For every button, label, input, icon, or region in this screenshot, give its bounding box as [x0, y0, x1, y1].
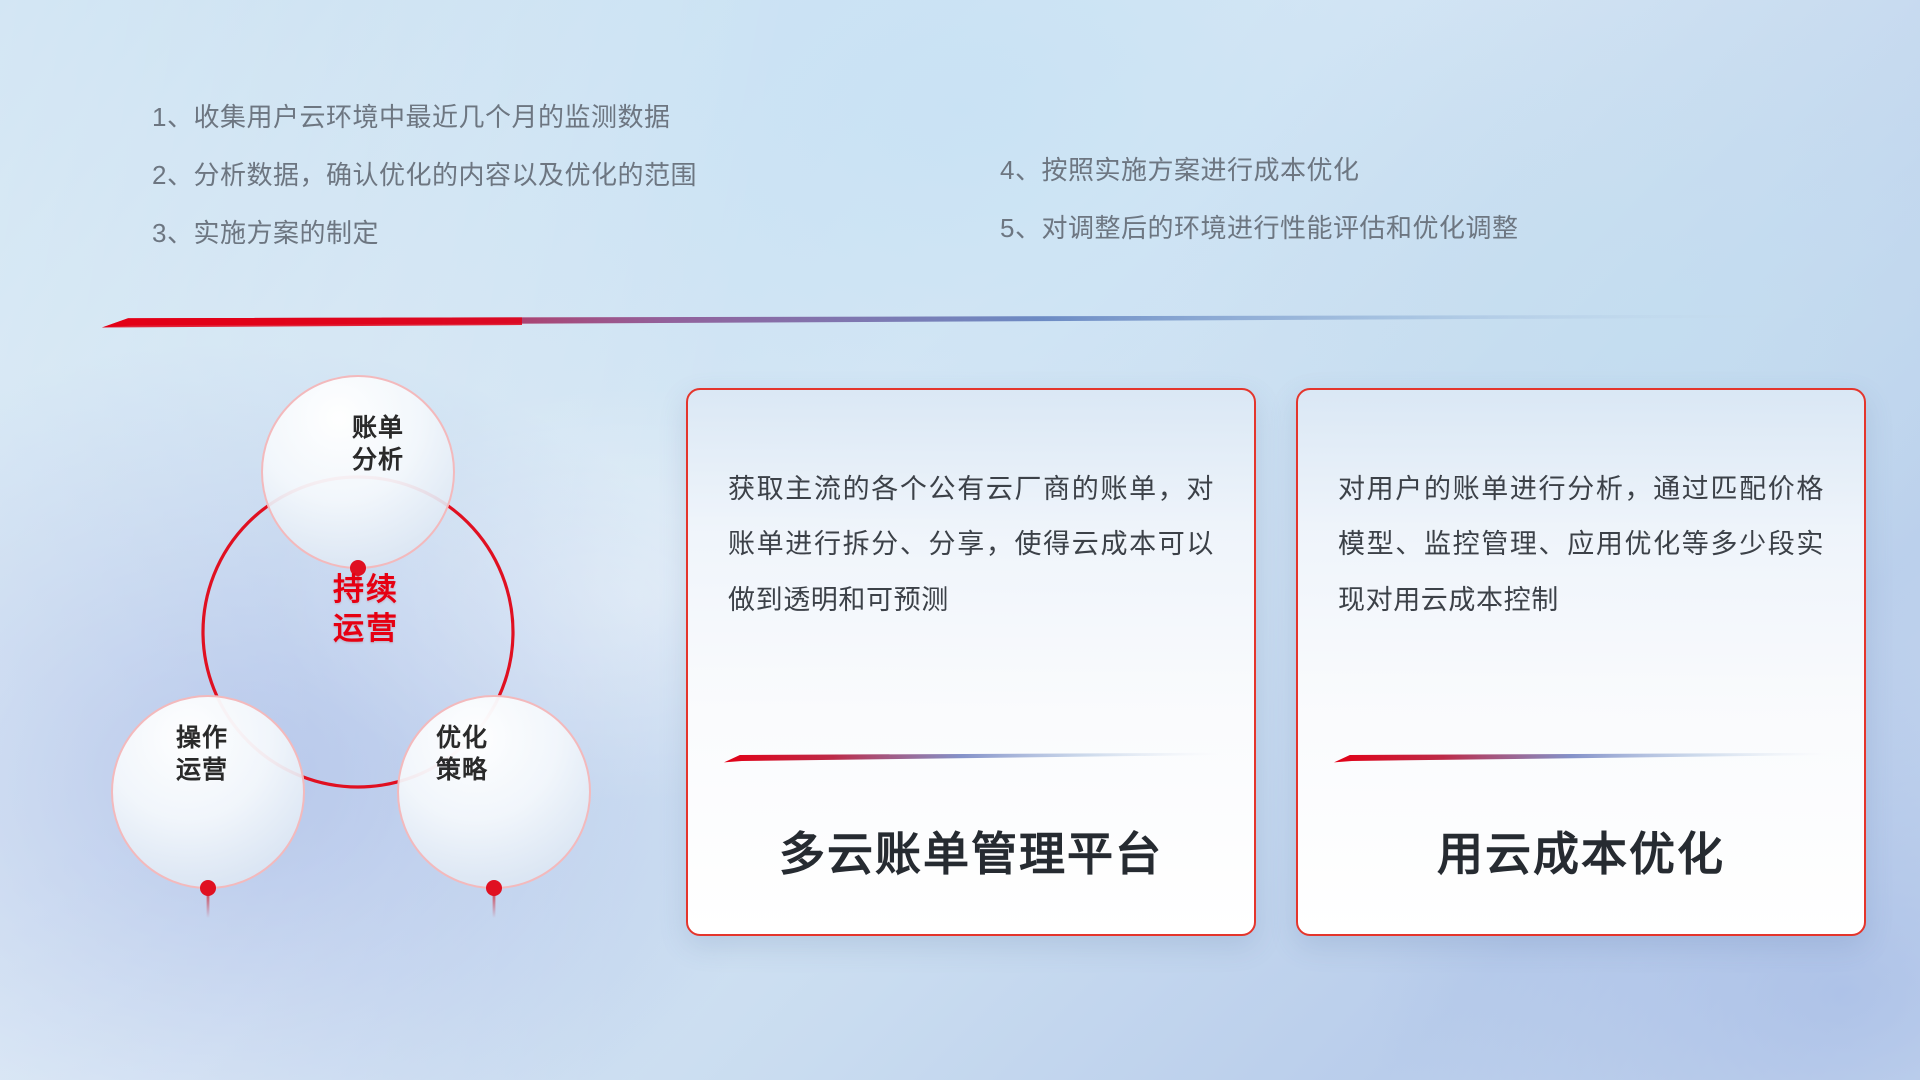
- venn-label-bill-analysis: 账单 分析: [308, 412, 448, 476]
- venn-label-optimization-strategy: 优化 策略: [388, 722, 536, 786]
- step-item-2: 2、分析数据，确认优化的内容以及优化的范围: [152, 162, 697, 188]
- card-accent-rule: [1334, 752, 1828, 763]
- slide-canvas: 1、收集用户云环境中最近几个月的监测数据 2、分析数据，确认优化的内容以及优化的…: [0, 0, 1920, 1080]
- steps-left-column: 1、收集用户云环境中最近几个月的监测数据 2、分析数据，确认优化的内容以及优化的…: [152, 104, 697, 246]
- card-title: 用云成本优化: [1298, 818, 1864, 884]
- step-item-4: 4、按照实施方案进行成本优化: [1000, 157, 1518, 183]
- card-title: 多云账单管理平台: [688, 818, 1254, 884]
- venn-label-operations: 操作 运营: [132, 722, 272, 786]
- steps-right-column: 4、按照实施方案进行成本优化 5、对调整后的环境进行性能评估和优化调整: [1000, 157, 1518, 241]
- continuous-operation-diagram: 账单 分析 操作 运营 优化 策略 持续 运营: [96, 352, 616, 952]
- section-divider: [102, 314, 1814, 328]
- card-cloud-cost-optimization[interactable]: 对用户的账单进行分析，通过匹配价格模型、监控管理、应用优化等多少段实现对用云成本…: [1296, 388, 1866, 936]
- card-body-text: 获取主流的各个公有云厂商的账单，对账单进行拆分、分享，使得云成本可以做到透明和可…: [728, 462, 1214, 628]
- card-accent-rule: [724, 752, 1218, 763]
- venn-node-dot-right: [486, 880, 502, 896]
- venn-node-dot-left: [200, 880, 216, 896]
- step-item-1: 1、收集用户云环境中最近几个月的监测数据: [152, 104, 697, 130]
- step-item-3: 3、实施方案的制定: [152, 220, 697, 246]
- card-multicloud-billing-platform[interactable]: 获取主流的各个公有云厂商的账单，对账单进行拆分、分享，使得云成本可以做到透明和可…: [686, 388, 1256, 936]
- card-body-text: 对用户的账单进行分析，通过匹配价格模型、监控管理、应用优化等多少段实现对用云成本…: [1338, 462, 1824, 628]
- step-item-5: 5、对调整后的环境进行性能评估和优化调整: [1000, 215, 1518, 241]
- venn-center-label: 持续 运营: [276, 570, 456, 648]
